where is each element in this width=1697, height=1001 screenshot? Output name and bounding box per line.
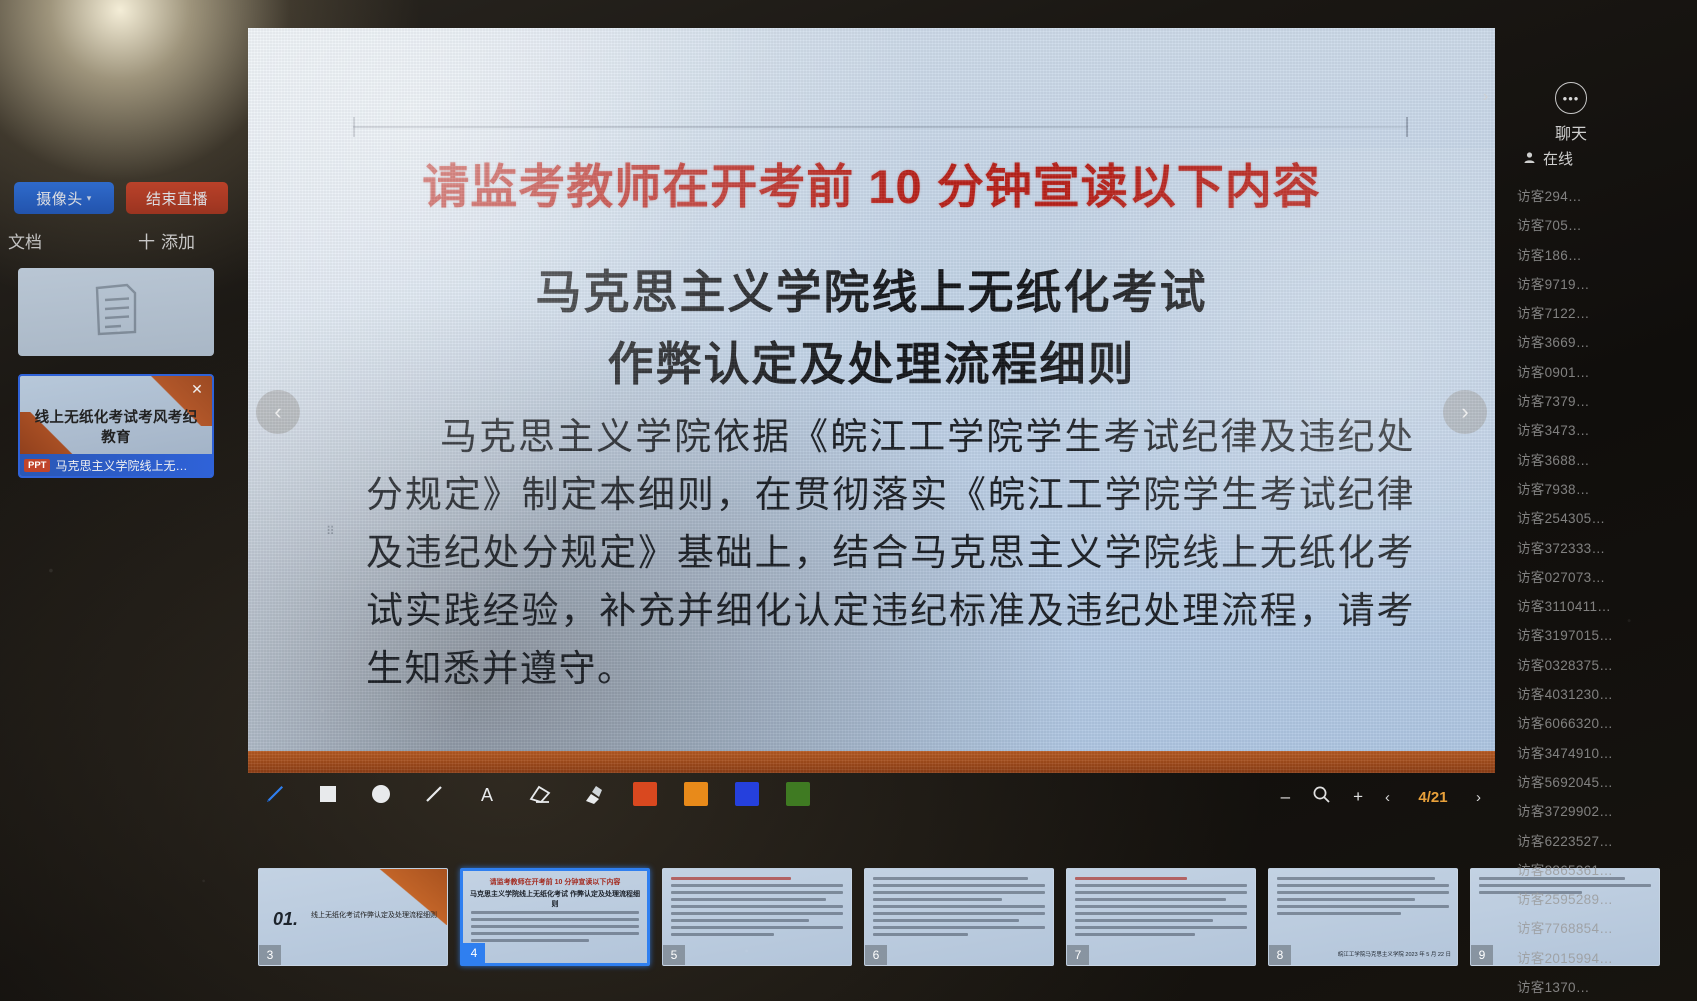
thumb-body-lines bbox=[1075, 877, 1247, 940]
add-document-button[interactable]: 十添加 bbox=[138, 228, 195, 253]
collapse-panel-button[interactable]: › bbox=[1483, 88, 1488, 106]
eraser-tool-icon[interactable] bbox=[527, 781, 553, 807]
slide-bottom-band bbox=[248, 751, 1495, 773]
pen-tool-icon[interactable] bbox=[262, 781, 288, 807]
end-live-button[interactable]: 结束直播 bbox=[126, 182, 228, 214]
visitor-item[interactable]: 访客705… bbox=[1517, 211, 1695, 240]
blank-document-card[interactable] bbox=[18, 268, 214, 356]
thumb-section-text: 线上无纸化考试作弊认定及处理流程细则 bbox=[311, 911, 437, 921]
visitor-item[interactable]: 访客4031230… bbox=[1517, 680, 1695, 709]
thumb-number: 7 bbox=[1067, 945, 1089, 965]
visitor-item[interactable]: 访客027073… bbox=[1517, 563, 1695, 592]
visitor-item[interactable]: 访客3110411… bbox=[1517, 592, 1695, 621]
visitor-item[interactable]: 访客5692045… bbox=[1517, 768, 1695, 797]
chevron-down-icon: ▾ bbox=[87, 193, 92, 204]
search-icon[interactable] bbox=[1312, 785, 1331, 809]
chat-bubble-icon: ••• bbox=[1555, 82, 1587, 114]
ppt-filename: 马克思主义学院线上无… bbox=[55, 457, 187, 474]
thumb-section-number: 01. bbox=[273, 909, 298, 930]
right-sidebar: › ••• 聊天 在线 访客294…访客705…访客186…访客9719…访客7… bbox=[1495, 0, 1697, 1001]
visitor-item[interactable]: 访客3729902… bbox=[1517, 797, 1695, 826]
color-swatch-red-orange[interactable] bbox=[633, 782, 657, 806]
visitor-item[interactable]: 访客3474910… bbox=[1517, 739, 1695, 768]
thumb-body-lines bbox=[471, 911, 639, 946]
thumb-number: 6 bbox=[865, 945, 887, 965]
prev-page-button[interactable]: ‹ bbox=[1385, 789, 1390, 806]
add-document-label: 添加 bbox=[161, 233, 195, 252]
slide-body-text: 马克思主义学院依据《皖江工学院学生考试纪律及违纪处分规定》制定本细则，在贯彻落实… bbox=[366, 408, 1415, 698]
chat-section[interactable]: ••• 聊天 bbox=[1531, 82, 1611, 144]
visitor-item[interactable]: 访客3473… bbox=[1517, 416, 1695, 445]
visitor-item[interactable]: 访客254305… bbox=[1517, 504, 1695, 533]
visitor-item[interactable]: 访客6066320… bbox=[1517, 709, 1695, 738]
document-icon bbox=[89, 282, 143, 343]
zoom-out-button[interactable]: – bbox=[1281, 787, 1290, 807]
color-swatch-blue[interactable] bbox=[735, 782, 759, 806]
slide-next-button[interactable]: › bbox=[1443, 390, 1487, 434]
camera-button[interactable]: 摄像头 ▾ bbox=[14, 182, 114, 214]
thumb-title-red: 请监考教师在开考前 10 分钟宣读以下内容 bbox=[469, 877, 641, 887]
person-icon bbox=[1523, 151, 1536, 167]
text-tool-icon[interactable]: A bbox=[474, 781, 500, 807]
thumbnail-slide-8[interactable]: 皖江工学院马克思主义学院 2023 年 5 月 22 日 8 bbox=[1268, 868, 1458, 966]
visitor-item[interactable]: 访客0328375… bbox=[1517, 651, 1695, 680]
live-controls: 摄像头 ▾ 结束直播 bbox=[14, 182, 234, 216]
ppt-badge: PPT bbox=[24, 459, 50, 472]
thumbnail-slide-5[interactable]: 5 bbox=[662, 868, 852, 966]
visitor-item[interactable]: 访客0901… bbox=[1517, 358, 1695, 387]
svg-text:A: A bbox=[481, 785, 493, 805]
online-label: 在线 bbox=[1543, 148, 1573, 169]
slide-stage[interactable]: 请监考教师在开考前 10 分钟宣读以下内容 马克思主义学院线上无纸化考试 作弊认… bbox=[248, 28, 1495, 773]
visitor-item[interactable]: 访客1370… bbox=[1517, 973, 1695, 1001]
thumb-number: 3 bbox=[259, 945, 281, 965]
visitor-item[interactable]: 访客372333… bbox=[1517, 534, 1695, 563]
camera-button-label: 摄像头 bbox=[36, 188, 83, 209]
visitor-item[interactable]: 访客9719… bbox=[1517, 270, 1695, 299]
thumb-number: 9 bbox=[1471, 945, 1493, 965]
visitor-item[interactable]: 访客3688… bbox=[1517, 446, 1695, 475]
color-swatch-green[interactable] bbox=[786, 782, 810, 806]
page-indicator: 4/21 bbox=[1412, 789, 1454, 806]
visitor-item[interactable]: 访客3197015… bbox=[1517, 621, 1695, 650]
circle-tool-icon[interactable] bbox=[368, 781, 394, 807]
thumbnail-slide-4[interactable]: 请监考教师在开考前 10 分钟宣读以下内容 马克思主义学院线上无纸化考试 作弊认… bbox=[460, 868, 650, 966]
online-section-header: 在线 bbox=[1523, 148, 1573, 169]
drawing-tools: A bbox=[262, 781, 810, 807]
color-swatch-orange[interactable] bbox=[684, 782, 708, 806]
visitor-item[interactable]: 访客6223527… bbox=[1517, 827, 1695, 856]
documents-section-label: 文档 bbox=[8, 228, 42, 253]
slide-prev-button[interactable]: ‹ bbox=[256, 390, 300, 434]
visitor-item[interactable]: 访客186… bbox=[1517, 241, 1695, 270]
thumb-body-lines bbox=[1277, 877, 1449, 919]
thumb-footer-text: 皖江工学院马克思主义学院 2023 年 5 月 22 日 bbox=[1338, 951, 1451, 959]
slide-title-line2: 马克思主义学院线上无纸化考试 bbox=[248, 256, 1495, 322]
thumbnail-slide-3[interactable]: 01. 线上无纸化考试作弊认定及处理流程细则 3 bbox=[258, 868, 448, 966]
next-page-button[interactable]: › bbox=[1476, 789, 1481, 806]
line-tool-icon[interactable] bbox=[421, 781, 447, 807]
thumbnail-slide-6[interactable]: 6 bbox=[864, 868, 1054, 966]
visitor-item[interactable]: 访客3669… bbox=[1517, 328, 1695, 357]
thumbnail-slide-7[interactable]: 7 bbox=[1066, 868, 1256, 966]
ppt-card-footer: PPT 马克思主义学院线上无… bbox=[20, 454, 212, 476]
monitor-photo: 摄像头 ▾ 结束直播 文档 十添加 bbox=[0, 0, 1697, 1001]
clear-board-icon[interactable] bbox=[580, 781, 606, 807]
visitor-item[interactable]: 访客8865361… bbox=[1517, 856, 1695, 885]
thumb-body-lines bbox=[873, 877, 1045, 940]
ppt-document-card[interactable]: ✕ 线上无纸化考试考风考纪教育 PPT 马克思主义学院线上无… bbox=[18, 374, 214, 478]
zoom-in-button[interactable]: + bbox=[1353, 787, 1363, 807]
thumb-body-lines bbox=[671, 877, 843, 940]
visitor-item[interactable]: 访客2015994… bbox=[1517, 944, 1695, 973]
annotation-toolbar: A – + ‹ 4/21 › bbox=[248, 773, 1495, 833]
slide-content: 请监考教师在开考前 10 分钟宣读以下内容 马克思主义学院线上无纸化考试 作弊认… bbox=[248, 28, 1495, 773]
square-tool-icon[interactable] bbox=[315, 781, 341, 807]
close-icon[interactable]: ✕ bbox=[189, 381, 205, 397]
slide-title-line3: 作弊认定及处理流程细则 bbox=[248, 328, 1495, 394]
slide-thumbnail-strip[interactable]: 01. 线上无纸化考试作弊认定及处理流程细则 3 请监考教师在开考前 10 分钟… bbox=[248, 868, 1495, 978]
end-live-button-label: 结束直播 bbox=[146, 188, 208, 209]
chat-label: 聊天 bbox=[1531, 120, 1611, 144]
visitor-item[interactable]: 访客7938… bbox=[1517, 475, 1695, 504]
visitor-item[interactable]: 访客2595289… bbox=[1517, 885, 1695, 914]
plus-icon: 十 bbox=[138, 233, 155, 252]
left-sidebar: 摄像头 ▾ 结束直播 文档 十添加 bbox=[0, 0, 248, 1001]
slide-title-red: 请监考教师在开考前 10 分钟宣读以下内容 bbox=[248, 148, 1495, 217]
zoom-and-page-controls: – + ‹ 4/21 › bbox=[1281, 785, 1481, 809]
slide-top-rule bbox=[353, 126, 1408, 128]
visitor-list[interactable]: 访客294…访客705…访客186…访客9719…访客7122…访客3669…访… bbox=[1517, 182, 1695, 1001]
visitor-item[interactable]: 访客7768854… bbox=[1517, 914, 1695, 943]
thumb-title-black: 马克思主义学院线上无纸化考试 作弊认定及处理流程细则 bbox=[469, 889, 641, 909]
drag-handle[interactable]: ⠿ bbox=[326, 528, 336, 556]
thumb-number: 4 bbox=[463, 943, 485, 963]
visitor-item[interactable]: 访客294… bbox=[1517, 182, 1695, 211]
thumb-number: 5 bbox=[663, 945, 685, 965]
ppt-card-title: 线上无纸化考试考风考纪教育 bbox=[28, 408, 204, 448]
visitor-item[interactable]: 访客7122… bbox=[1517, 299, 1695, 328]
thumb-number: 8 bbox=[1269, 945, 1291, 965]
visitor-item[interactable]: 访客7379… bbox=[1517, 387, 1695, 416]
